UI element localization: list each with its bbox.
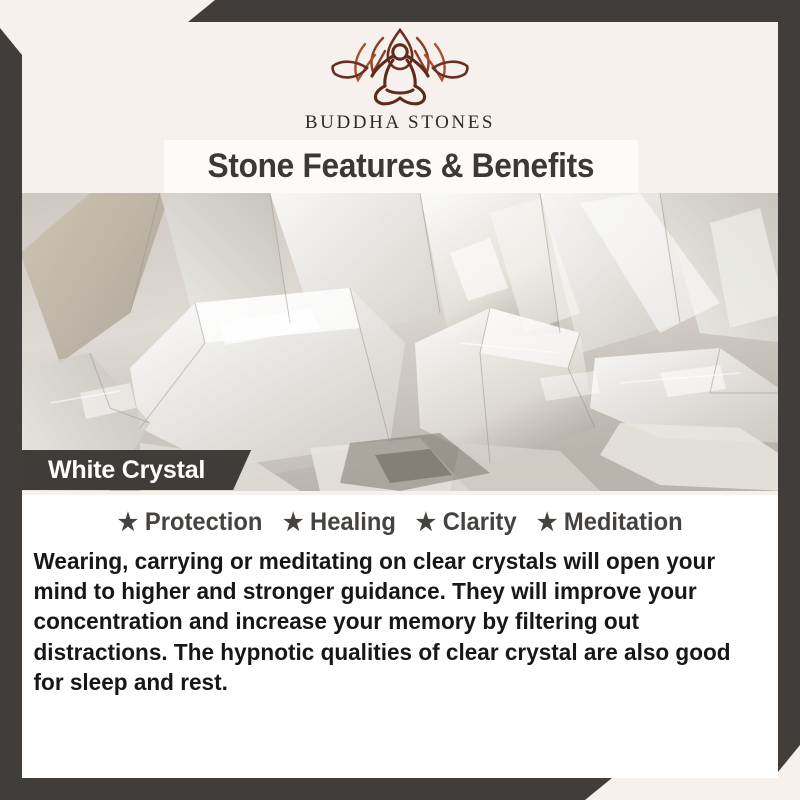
benefit-label: Protection [144, 508, 261, 537]
benefits-row: ★ Protection ★ Healing ★ Clarity ★ Medit… [22, 495, 778, 537]
photo-caption-label: White Crystal [48, 456, 205, 485]
frame-left-border [0, 0, 22, 800]
frame-right-border [778, 0, 800, 800]
benefit-item-protection: ★ Protection [117, 508, 262, 537]
benefit-item-healing: ★ Healing [283, 508, 396, 537]
star-icon: ★ [537, 511, 557, 535]
frame-bottom-border [0, 778, 800, 800]
star-icon: ★ [283, 511, 303, 535]
page-title-box: Stone Features & Benefits [164, 140, 638, 193]
brand-name: BUDDHA STONES [305, 112, 495, 134]
benefit-label: Meditation [564, 508, 683, 537]
white-crystal-cluster-photo [20, 193, 786, 491]
page-title: Stone Features & Benefits [208, 147, 595, 186]
content-panel: ★ Protection ★ Healing ★ Clarity ★ Medit… [22, 495, 778, 778]
benefit-item-clarity: ★ Clarity [415, 508, 516, 537]
photo-caption-banner: White Crystal [20, 450, 251, 490]
infographic-card: BUDDHA STONES Stone Features & Benefits [0, 0, 800, 800]
lotus-meditation-icon [325, 22, 475, 108]
star-icon: ★ [117, 511, 137, 535]
benefit-label: Clarity [442, 508, 516, 537]
brand-logo: BUDDHA STONES [0, 22, 800, 134]
benefit-item-meditation: ★ Meditation [537, 508, 683, 537]
description-text: Wearing, carrying or meditating on clear… [22, 546, 748, 697]
star-icon: ★ [415, 511, 435, 535]
crystal-illustration [20, 193, 786, 491]
benefit-label: Healing [310, 508, 396, 537]
